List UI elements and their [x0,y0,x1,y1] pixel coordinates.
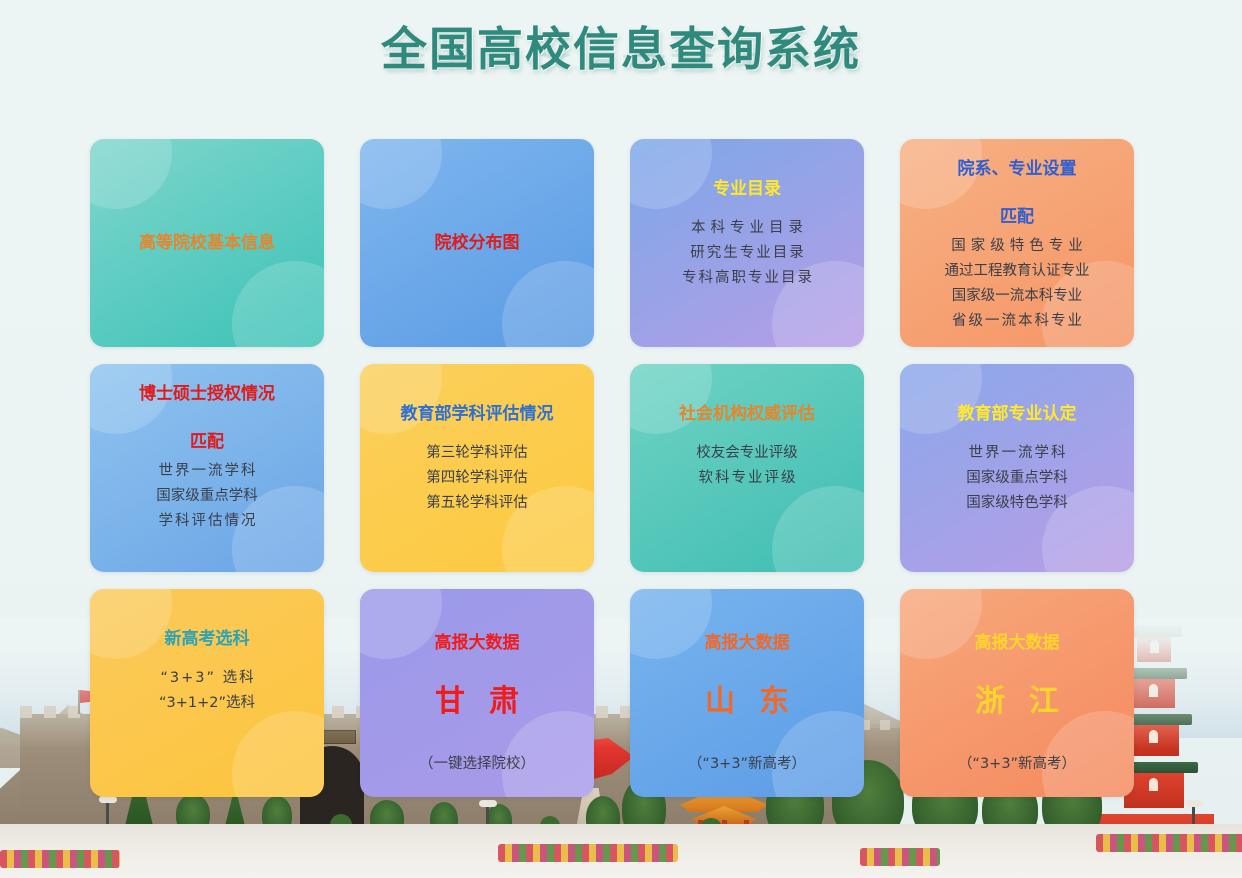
card-content: 社会机构权威评估校友会专业评级软科专业评级 [630,364,864,572]
card-doctoral-master-authorization[interactable]: 博士硕士授权情况匹配世界一流学科国家级重点学科学科评估情况 [90,364,324,572]
card-subtitle: 匹配 [1000,207,1034,227]
card-item-list: 世界一流学科国家级重点学科学科评估情况 [156,459,258,534]
card-title: 院校分布图 [435,233,520,253]
card-content: 院系、专业设置匹配国家级特色专业通过工程教育认证专业国家级一流本科专业省级一流本… [900,139,1134,347]
card-title: 高报大数据 [435,633,520,653]
card-moe-discipline-evaluation[interactable]: 教育部学科评估情况第三轮学科评估第四轮学科评估第五轮学科评估 [360,364,594,572]
card-list-item[interactable]: 本科专业目录 [686,216,808,241]
card-title: 教育部学科评估情况 [401,404,554,424]
card-moe-major-accreditation[interactable]: 教育部专业认定世界一流学科国家级重点学科国家级特色学科 [900,364,1134,572]
card-list-item[interactable]: 软科专业评级 [697,466,798,491]
card-major-catalog[interactable]: 专业目录本科专业目录研究生专业目录专科高职专业目录 [630,139,864,347]
card-content: 教育部专业认定世界一流学科国家级重点学科国家级特色学科 [900,364,1134,572]
card-list-item[interactable]: 第三轮学科评估 [426,441,528,466]
card-item-list: “3+3” 选科“3+1+2”选科 [158,666,255,716]
page-header: 全国高校信息查询系统 全国高校信息查询系统 [0,0,1242,120]
card-region-name: 甘肃 [411,685,543,718]
card-title: 社会机构权威评估 [679,404,815,424]
card-higher-education-basic-info[interactable]: 高等院校基本信息 [90,139,324,347]
card-title: 专业目录 [713,179,781,199]
card-gaokao-bigdata-shandong[interactable]: 高报大数据山东（“3+3”新高考） [630,589,864,797]
card-list-item[interactable]: 第四轮学科评估 [426,466,528,491]
card-list-item[interactable]: 专科高职专业目录 [680,266,814,291]
card-title: 博士硕士授权情况 [139,384,275,404]
card-note: （一键选择院校） [419,752,535,773]
card-content: 新高考选科“3+3” 选科“3+1+2”选科 [90,589,324,797]
card-note: （“3+3”新高考） [688,752,806,773]
card-item-list: 国家级特色专业通过工程教育认证专业国家级一流本科专业省级一流本科专业 [945,234,1090,334]
card-note: （“3+3”新高考） [958,752,1076,773]
card-new-gaokao-subject-selection[interactable]: 新高考选科“3+3” 选科“3+1+2”选科 [90,589,324,797]
card-grid: 高等院校基本信息院校分布图专业目录本科专业目录研究生专业目录专科高职专业目录院系… [90,139,1152,797]
card-list-item[interactable]: “3+3” 选科 [158,666,255,691]
card-institution-distribution-map[interactable]: 院校分布图 [360,139,594,347]
card-content: 教育部学科评估情况第三轮学科评估第四轮学科评估第五轮学科评估 [360,364,594,572]
card-list-item[interactable]: 国家级一流本科专业 [952,284,1083,309]
card-list-item[interactable]: 第五轮学科评估 [426,491,528,516]
card-title: 教育部专业认定 [958,404,1077,424]
card-content: 院校分布图 [360,139,594,347]
card-list-item[interactable]: 研究生专业目录 [688,241,806,266]
card-list-item[interactable]: 国家级重点学科 [966,466,1068,491]
card-list-item[interactable]: 世界一流学科 [157,459,258,484]
card-title: 高报大数据 [705,633,790,653]
card-content: 高报大数据浙江（“3+3”新高考） [900,589,1134,797]
card-region-name: 山东 [681,685,813,718]
card-title: 高等院校基本信息 [139,233,275,253]
card-gaokao-bigdata-zhejiang[interactable]: 高报大数据浙江（“3+3”新高考） [900,589,1134,797]
card-list-item[interactable]: 国家级重点学科 [156,484,258,509]
card-item-list: 世界一流学科国家级重点学科国家级特色学科 [966,441,1068,516]
card-title: 院系、专业设置 [958,159,1077,179]
card-list-item[interactable]: 世界一流学科 [967,441,1068,466]
card-list-item[interactable]: 国家级特色学科 [966,491,1068,516]
card-list-item[interactable]: 校友会专业评级 [696,441,798,466]
card-content: 高报大数据山东（“3+3”新高考） [630,589,864,797]
card-region-name: 浙江 [951,685,1083,718]
card-title: 高报大数据 [975,633,1060,653]
card-list-item[interactable]: 通过工程教育认证专业 [945,259,1090,284]
card-content: 博士硕士授权情况匹配世界一流学科国家级重点学科学科评估情况 [90,364,324,572]
card-list-item[interactable]: 国家级特色专业 [946,234,1088,259]
card-list-item[interactable]: 学科评估情况 [157,509,258,534]
page-root: 全国高校信息查询系统 全国高校信息查询系统 高等院校基本信息院校分布图专业目录本… [0,0,1242,878]
card-gaokao-bigdata-gansu[interactable]: 高报大数据甘肃（一键选择院校） [360,589,594,797]
card-content: 高等院校基本信息 [90,139,324,347]
card-list-item[interactable]: “3+1+2”选科 [159,691,255,716]
card-title: 新高考选科 [165,629,250,649]
card-list-item[interactable]: 省级一流本科专业 [950,309,1084,334]
page-title: 全国高校信息查询系统 [0,26,1242,72]
card-department-major-setup[interactable]: 院系、专业设置匹配国家级特色专业通过工程教育认证专业国家级一流本科专业省级一流本… [900,139,1134,347]
card-content: 专业目录本科专业目录研究生专业目录专科高职专业目录 [630,139,864,347]
card-item-list: 第三轮学科评估第四轮学科评估第五轮学科评估 [426,441,528,516]
card-subtitle: 匹配 [190,432,224,452]
card-item-list: 本科专业目录研究生专业目录专科高职专业目录 [680,216,814,291]
card-social-agency-evaluation[interactable]: 社会机构权威评估校友会专业评级软科专业评级 [630,364,864,572]
card-content: 高报大数据甘肃（一键选择院校） [360,589,594,797]
card-item-list: 校友会专业评级软科专业评级 [696,441,798,491]
